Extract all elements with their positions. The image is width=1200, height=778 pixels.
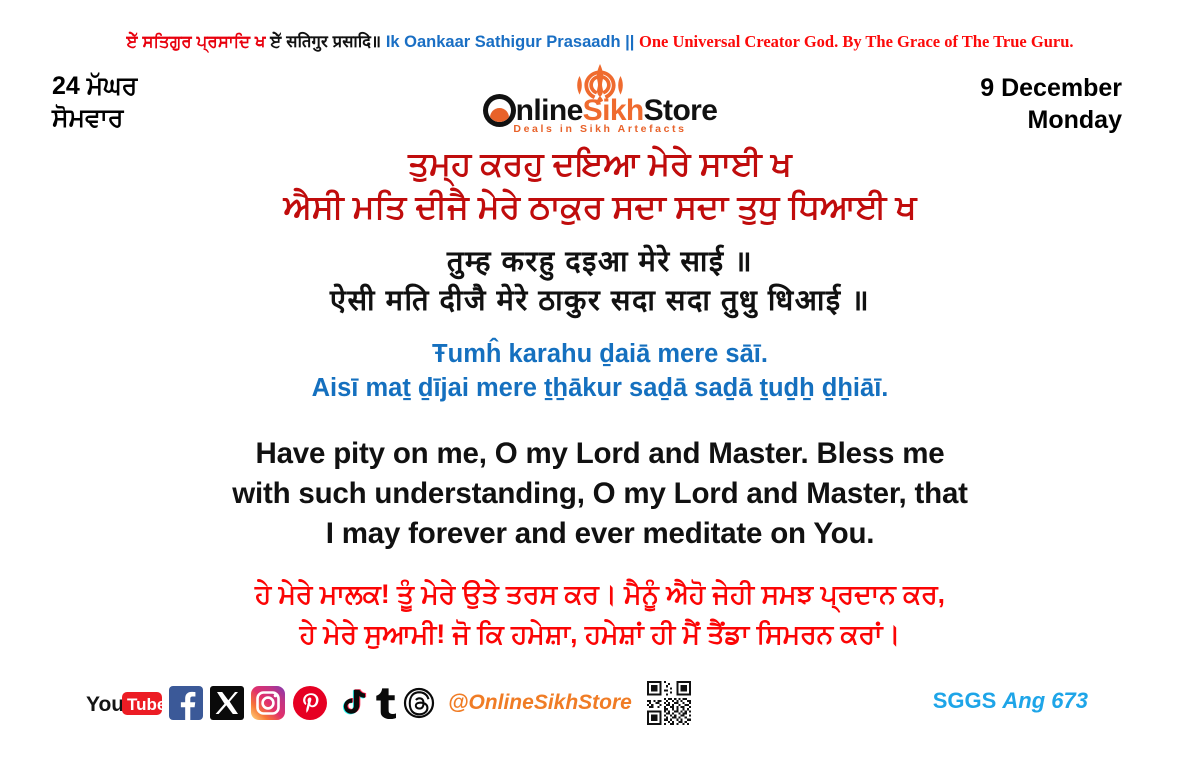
scripture-ang-number: Ang 673 xyxy=(1002,688,1088,713)
english-translation-line-1: Have pity on me, O my Lord and Master. B… xyxy=(0,434,1200,474)
scripture-source-label: SGGS xyxy=(933,688,997,713)
logo-tagline: Deals in Sikh Artefacts xyxy=(450,123,750,135)
transliteration-line-1: Ŧumĥ karahu ḏaiā mere sāī. xyxy=(0,337,1200,371)
threads-icon[interactable] xyxy=(403,686,435,720)
gurmukhi-verse-line-2: ਐਸੀ ਮਤਿ ਦੀਜੈ ਮੇਰੇ ਠਾਕੁਰ ਸਦਾ ਸਦਾ ਤੁਧੁ ਧਿਆ… xyxy=(0,186,1200,229)
tumblr-icon[interactable] xyxy=(374,686,396,720)
social-footer: You Tube xyxy=(86,681,691,725)
mool-mantar-devanagari: ਏੱ सतिगुर प्रसादि॥ xyxy=(270,33,381,51)
mool-mantar-line: ਏੱ ਸਤਿਗੁਰ ਪ੍ਰਸਾਦਿ ਖ ਏੱ सतिगुर प्रसादि॥ I… xyxy=(0,34,1200,51)
mool-mantar-gurmukhi: ਏੱ ਸਤਿਗੁਰ ਪ੍ਰਸਾਦਿ ਖ xyxy=(126,33,265,51)
tiktok-icon[interactable] xyxy=(335,686,367,720)
pinterest-icon[interactable] xyxy=(292,685,328,721)
svg-text:You: You xyxy=(86,693,124,716)
english-translation-line-3: I may forever and ever meditate on You. xyxy=(0,514,1200,554)
nanakshahi-day: ਸੋਮਵਾਰ xyxy=(52,102,137,134)
svg-text:Tube: Tube xyxy=(127,695,162,714)
instagram-icon[interactable] xyxy=(251,686,285,720)
devanagari-verse-line-2: ऐसी मति दीजै मेरे ठाकुर सदा सदा तुधु धिआ… xyxy=(0,282,1200,321)
gurmukhi-verse-block: ਤੁਮ੍ਹ ਕਰਹੁ ਦਇਆ ਮੇਰੇ ਸਾਈ ਖ ਐਸੀ ਮਤਿ ਦੀਜੈ ਮ… xyxy=(0,143,1200,228)
gregorian-date-block: 9 December Monday xyxy=(980,72,1122,136)
scripture-source: SGGS Ang 673 xyxy=(933,688,1088,714)
english-translation-block: Have pity on me, O my Lord and Master. B… xyxy=(0,434,1200,554)
nanakshahi-date: 24 ਮੱਘਰ xyxy=(52,70,137,102)
facebook-icon[interactable] xyxy=(169,686,203,720)
mool-mantar-transliteration: Ik Oankaar Sathigur Prasaadh || xyxy=(386,33,635,51)
transliteration-line-2: Aisī maṯ ḏījai mere ṯẖākur saḏā saḏā ṯuḏ… xyxy=(0,371,1200,405)
onlinesikhstore-logo[interactable]: nlineSikhStore Deals in Sikh Artefacts xyxy=(450,64,750,140)
nanakshahi-date-block: 24 ਮੱਘਰ ਸੋਮਵਾਰ xyxy=(52,70,137,134)
punjabi-translation-line-2: ਹੇ ਮੇਰੇ ਸੁਆਮੀ! ਜੋ ਕਿ ਹਮੇਸ਼ਾ, ਹਮੇਸ਼ਾਂ ਹੀ ਮੈ… xyxy=(0,615,1200,655)
devanagari-verse-line-1: तुम्ह करहु दइआ मेरे साई ॥ xyxy=(0,243,1200,282)
english-translation-line-2: with such understanding, O my Lord and M… xyxy=(0,474,1200,514)
gregorian-date: 9 December xyxy=(980,72,1122,104)
qr-code[interactable] xyxy=(647,681,691,725)
punjabi-translation-line-1: ਹੇ ਮੇਰੇ ਮਾਲਕ! ਤੂੰ ਮੇਰੇ ਉਤੇ ਤਰਸ ਕਰ। ਮੈਨੂੰ… xyxy=(0,575,1200,615)
mool-mantar-english: One Universal Creator God. By The Grace … xyxy=(639,32,1074,51)
gurmukhi-verse-line-1: ਤੁਮ੍ਹ ਕਰਹੁ ਦਇਆ ਮੇਰੇ ਸਾਈ ਖ xyxy=(0,143,1200,186)
devanagari-verse-block: तुम्ह करहु दइआ मेरे साई ॥ ऐसी मति दीजै म… xyxy=(0,243,1200,320)
punjabi-translation-block: ਹੇ ਮੇਰੇ ਮਾਲਕ! ਤੂੰ ਮੇਰੇ ਉਤੇ ਤਰਸ ਕਰ। ਮੈਨੂੰ… xyxy=(0,575,1200,655)
x-twitter-icon[interactable] xyxy=(210,686,244,720)
gregorian-day: Monday xyxy=(980,104,1122,136)
youtube-icon[interactable]: You Tube xyxy=(86,688,162,718)
social-handle[interactable]: @OnlineSikhStore xyxy=(448,691,632,715)
transliteration-block: Ŧumĥ karahu ḏaiā mere sāī. Aisī maṯ ḏīja… xyxy=(0,337,1200,405)
